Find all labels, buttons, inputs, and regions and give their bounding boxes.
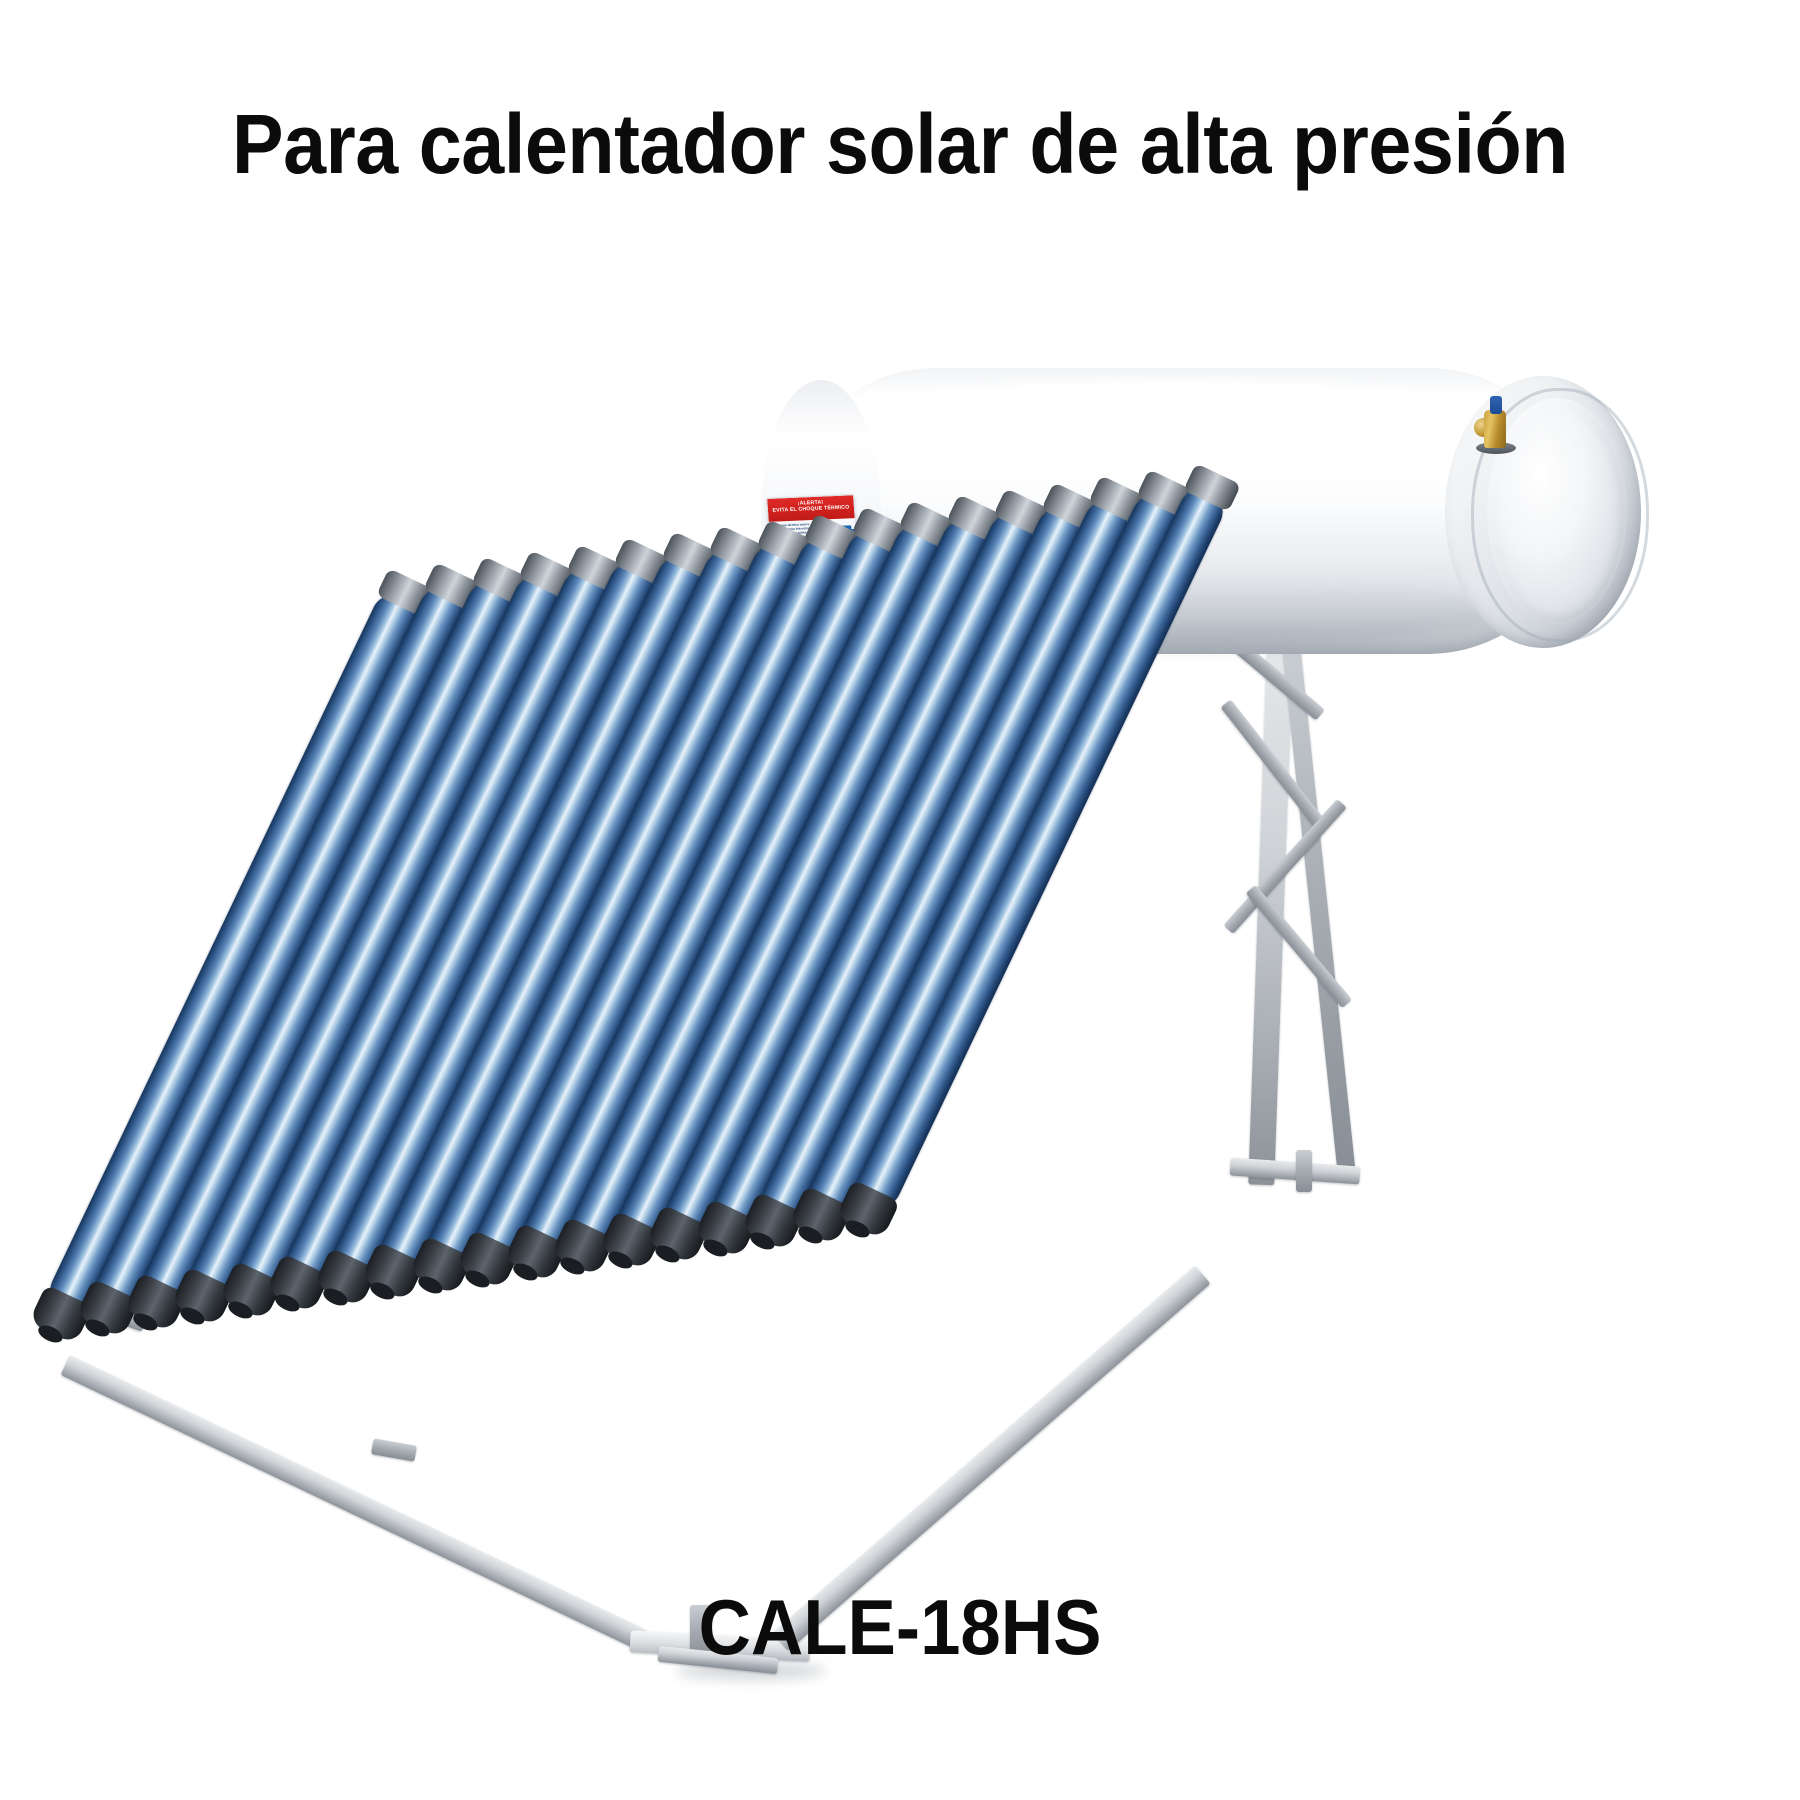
model-code: CALE-18HS [63, 1583, 1737, 1671]
tank-highlight [875, 380, 1475, 428]
valve-body [1484, 410, 1506, 448]
page-title: Para calentador solar de alta presión [72, 96, 1728, 192]
product-image: ¡ALERTA! EVITA EL CHOQUE TÉRMICO El choq… [0, 300, 1800, 1500]
pressure-relief-valve [1472, 396, 1518, 456]
frame-foot-mid [371, 1438, 417, 1461]
valve-cap [1490, 396, 1502, 414]
